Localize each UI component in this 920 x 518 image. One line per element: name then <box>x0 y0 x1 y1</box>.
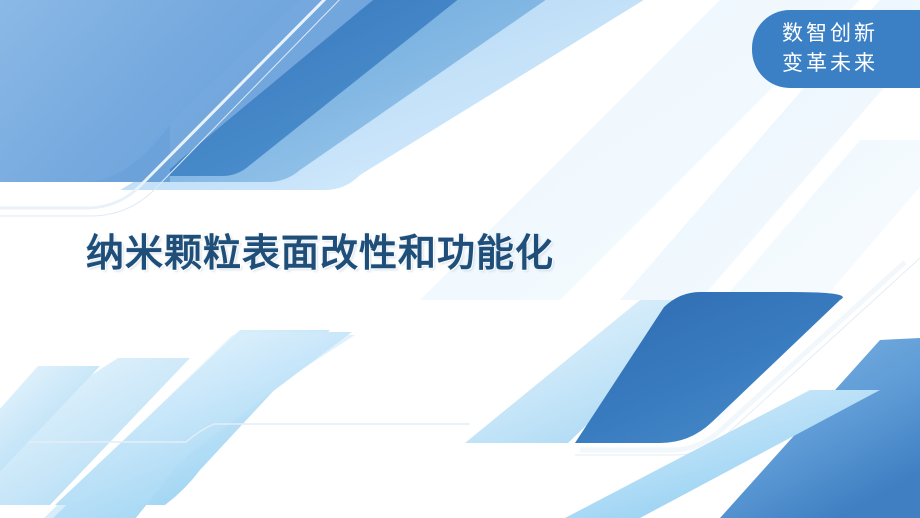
brand-badge: 数智创新 变革未来 <box>752 10 920 88</box>
bottom-right-corner-triangle <box>720 338 920 518</box>
bottom-hairline <box>0 424 470 442</box>
bottom-left-long-band <box>52 332 352 518</box>
slide-canvas: 数智创新 变革未来 纳米颗粒表面改性和功能化 <box>0 0 920 518</box>
deep-wedge-outline <box>580 262 905 450</box>
brand-badge-line-1: 数智创新 <box>782 19 911 49</box>
deep-wedge-hairline <box>575 258 920 455</box>
top-left-panel <box>0 0 385 182</box>
faint-band-c <box>620 140 920 420</box>
brand-badge-line-2: 变革未来 <box>782 49 911 79</box>
bottom-right-deep-wedge <box>575 292 843 443</box>
top-band-pale <box>120 0 660 190</box>
bottom-left-small-chevron <box>0 366 100 482</box>
bottom-center-pale-arrow <box>55 330 330 505</box>
title-block: 纳米颗粒表面改性和功能化 <box>86 230 554 278</box>
bottom-left-pale-chevron <box>0 358 190 505</box>
top-panel-outline-hair <box>0 0 345 216</box>
bottom-right-corner-pale <box>565 390 880 518</box>
top-band-mid <box>110 0 560 182</box>
top-panel-outline <box>0 0 330 208</box>
top-left-panel-fill <box>0 0 170 182</box>
bottom-tail-sweep <box>156 330 920 474</box>
bottom-left-big-wedge <box>44 335 355 518</box>
top-left-panel-round <box>0 0 300 182</box>
page-title: 纳米颗粒表面改性和功能化 <box>86 230 554 278</box>
top-band-dark <box>95 0 470 176</box>
bottom-right-pale-sweep <box>465 300 732 443</box>
